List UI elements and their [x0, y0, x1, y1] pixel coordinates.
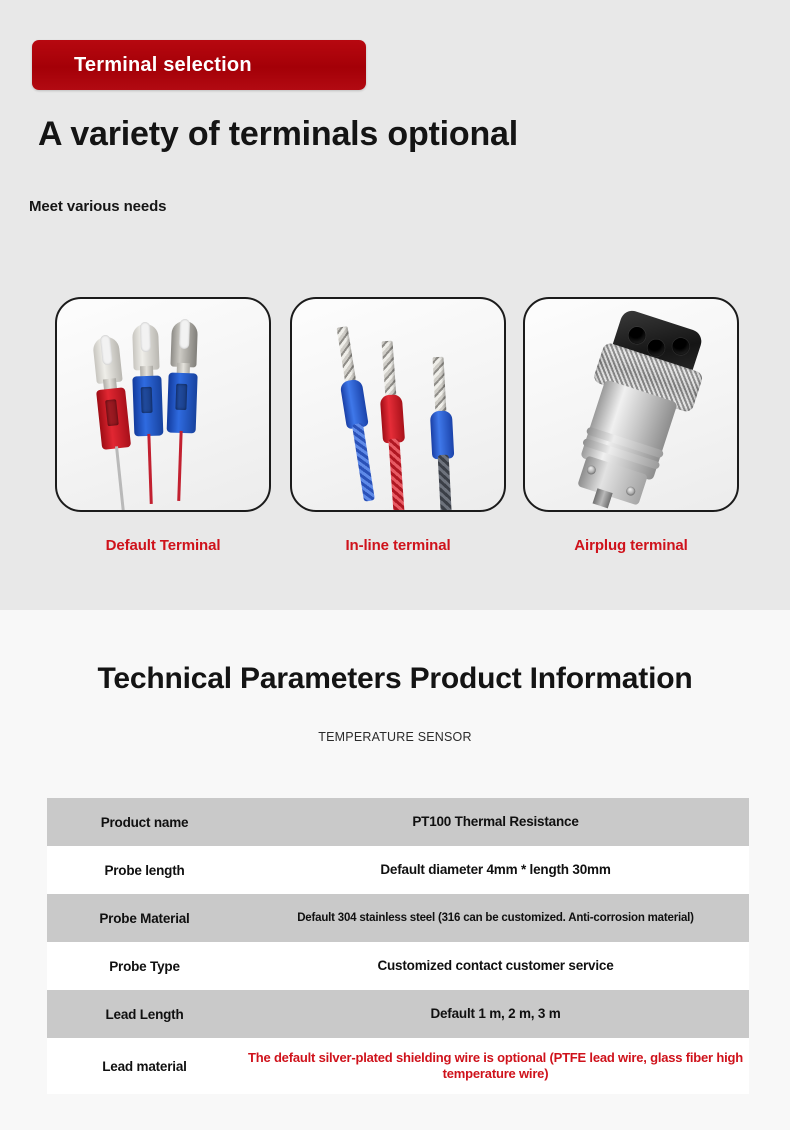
spec-value: Default 304 stainless steel (316 can be … — [242, 894, 749, 942]
section-badge: Terminal selection — [32, 40, 366, 90]
terminal-image-inline — [290, 297, 506, 512]
terminal-card-default[interactable]: Default Terminal — [55, 297, 271, 554]
table-row: Probe Material Default 304 stainless ste… — [47, 894, 749, 942]
terminal-image-airplug — [523, 297, 739, 512]
terminal-card-row: Default Terminal In-line terminal — [0, 297, 790, 577]
page-title: A variety of terminals optional — [38, 115, 518, 154]
spec-value: Customized contact customer service — [242, 942, 749, 990]
spec-value: The default silver-plated shielding wire… — [242, 1038, 749, 1094]
table-row: Probe Type Customized contact customer s… — [47, 942, 749, 990]
spec-key: Product name — [47, 798, 242, 846]
specifications-table: Product name PT100 Thermal Resistance Pr… — [47, 798, 749, 1094]
section-badge-label: Terminal selection — [74, 54, 252, 77]
spec-key: Lead Length — [47, 990, 242, 1038]
table-row: Lead material The default silver-plated … — [47, 1038, 749, 1094]
terminal-card-caption: Airplug terminal — [523, 537, 739, 554]
page-subtitle: Meet various needs — [29, 198, 166, 215]
spec-value: Default 1 m, 2 m, 3 m — [242, 990, 749, 1038]
technical-parameters-section: Technical Parameters Product Information… — [0, 610, 790, 1130]
terminal-card-caption: Default Terminal — [55, 537, 271, 554]
table-row: Product name PT100 Thermal Resistance — [47, 798, 749, 846]
terminal-selection-section: Terminal selection A variety of terminal… — [0, 0, 790, 610]
spec-key: Probe length — [47, 846, 242, 894]
spec-key: Probe Type — [47, 942, 242, 990]
params-subtitle: TEMPERATURE SENSOR — [0, 730, 790, 744]
table-row: Lead Length Default 1 m, 2 m, 3 m — [47, 990, 749, 1038]
terminal-card-inline[interactable]: In-line terminal — [290, 297, 506, 554]
table-row: Probe length Default diameter 4mm * leng… — [47, 846, 749, 894]
spec-value: PT100 Thermal Resistance — [242, 798, 749, 846]
params-title: Technical Parameters Product Information — [0, 662, 790, 696]
terminal-image-default — [55, 297, 271, 512]
spec-key: Lead material — [47, 1038, 242, 1094]
spec-key: Probe Material — [47, 894, 242, 942]
terminal-card-airplug[interactable]: Airplug terminal — [523, 297, 739, 554]
spec-value: Default diameter 4mm * length 30mm — [242, 846, 749, 894]
terminal-card-caption: In-line terminal — [290, 537, 506, 554]
aviation-plug-icon — [556, 305, 719, 512]
